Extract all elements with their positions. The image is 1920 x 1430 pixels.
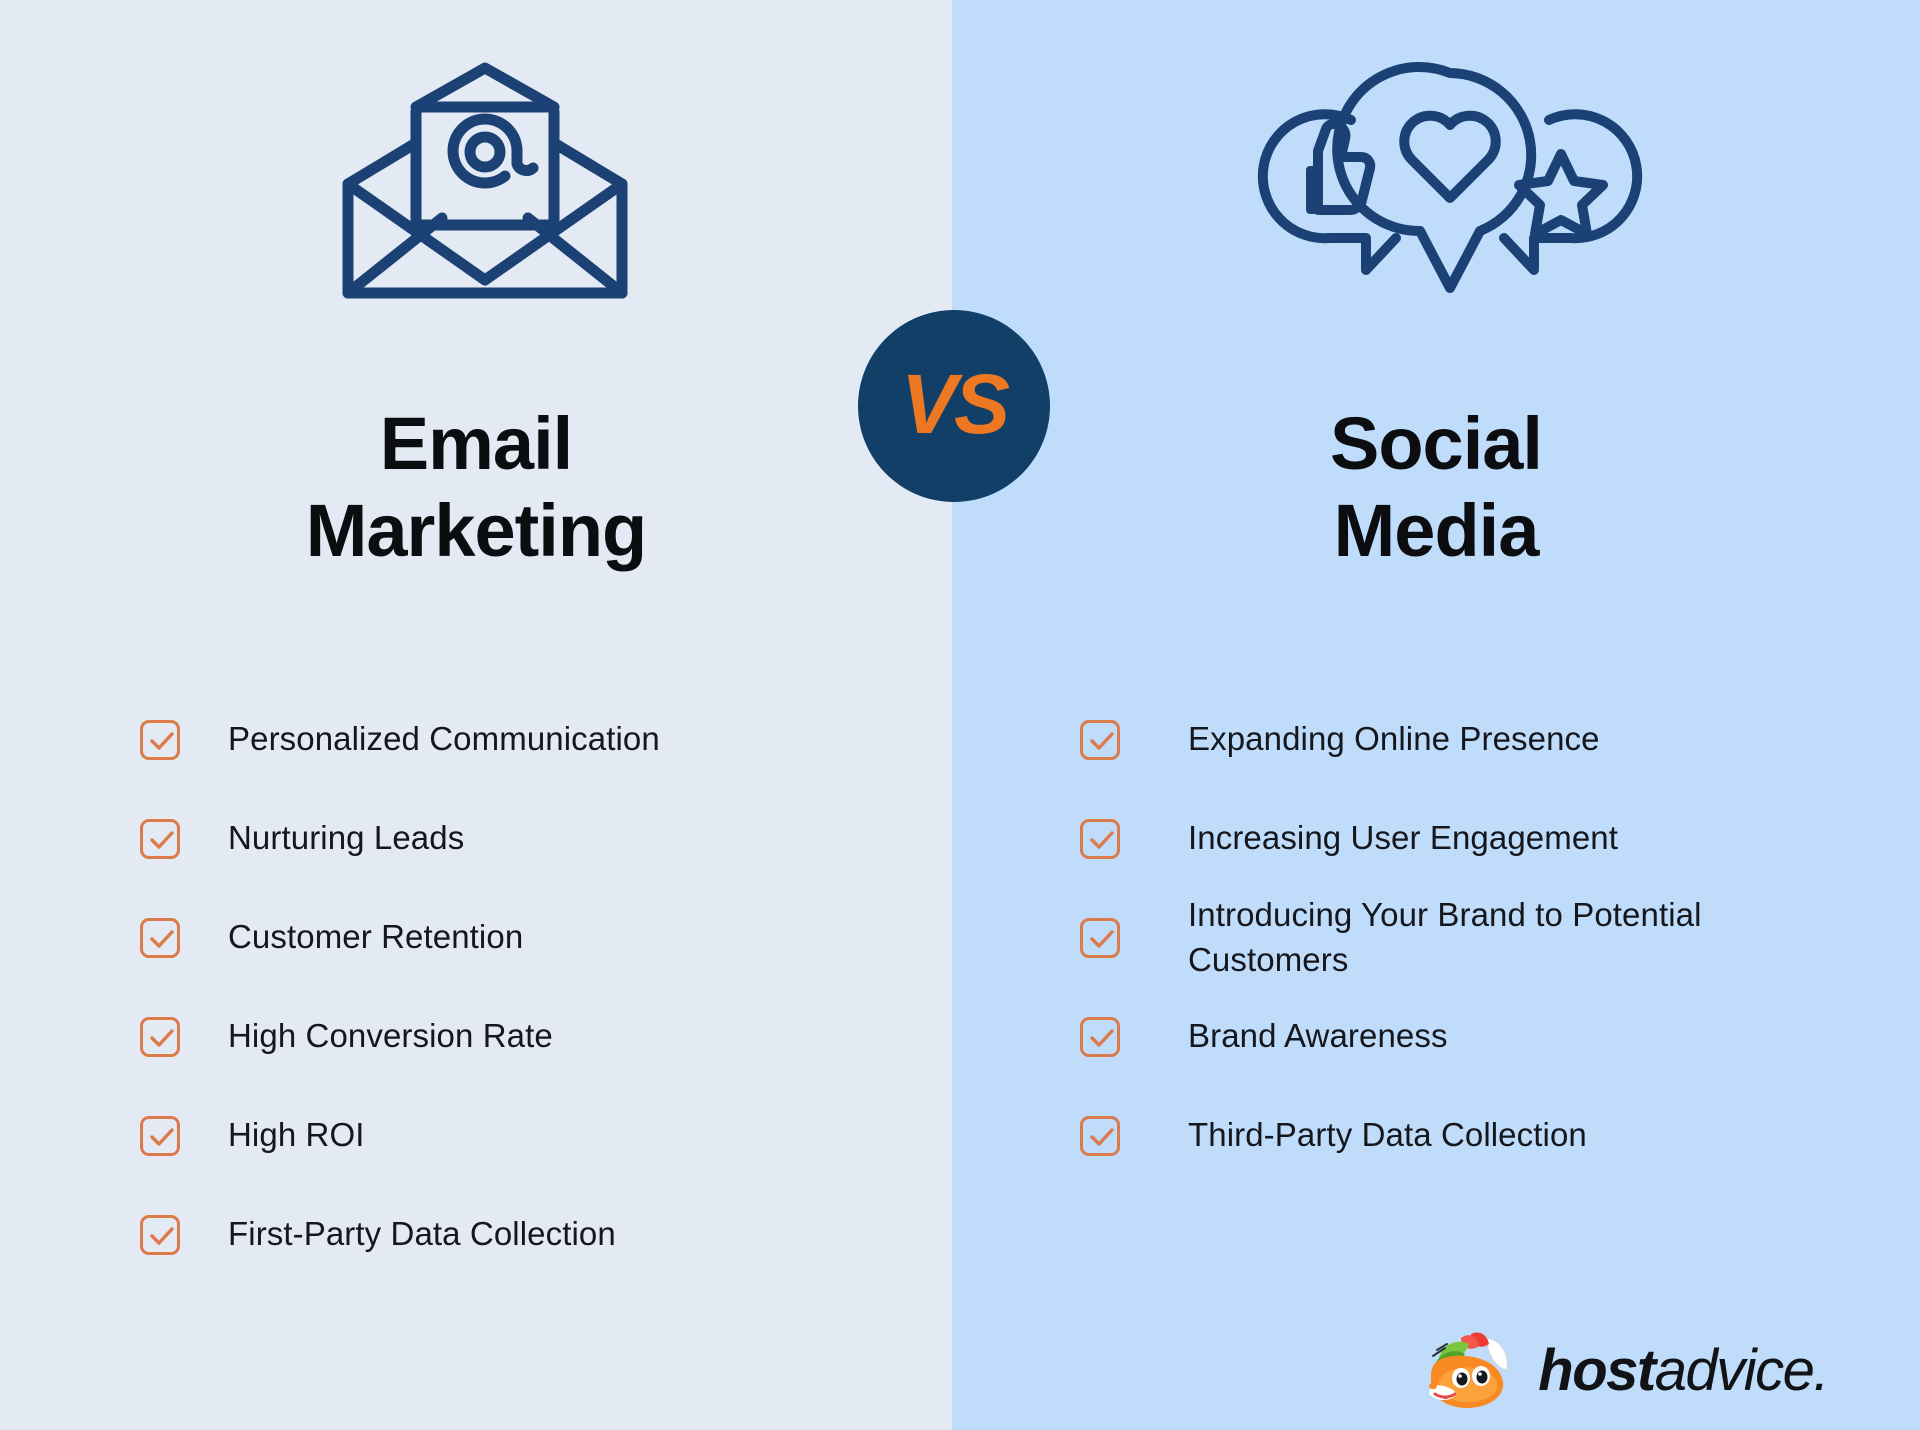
- list-item-label: Introducing Your Brand to Potential Cust…: [1188, 893, 1820, 982]
- list-item[interactable]: High ROI: [140, 1086, 900, 1185]
- versus-badge: VS: [858, 310, 1050, 502]
- checkbox-checked-icon[interactable]: [1080, 819, 1120, 859]
- list-item-label: Customer Retention: [228, 915, 523, 960]
- infographic-canvas: VS Email Marketing Social Media Personal…: [0, 0, 1920, 1430]
- list-item[interactable]: Expanding Online Presence: [1080, 690, 1820, 789]
- list-item-label: Brand Awareness: [1188, 1014, 1448, 1059]
- social-speech-bubbles-icon: [1250, 58, 1650, 308]
- title-line-1: Email: [0, 400, 952, 487]
- list-item[interactable]: Customer Retention: [140, 888, 900, 987]
- list-item[interactable]: Third-Party Data Collection: [1080, 1086, 1820, 1185]
- title-line-1: Social: [952, 400, 1920, 487]
- email-marketing-feature-list: Personalized Communication Nurturing Lea…: [140, 690, 900, 1284]
- list-item-label: Third-Party Data Collection: [1188, 1113, 1587, 1158]
- list-item-label: Increasing User Engagement: [1188, 816, 1618, 861]
- hostadvice-wordmark: hostadvice.: [1538, 1342, 1828, 1400]
- social-media-title: Social Media: [952, 400, 1920, 575]
- fox-mascot-icon: [1425, 1330, 1530, 1412]
- list-item[interactable]: Increasing User Engagement: [1080, 789, 1820, 888]
- checkbox-checked-icon[interactable]: [140, 918, 180, 958]
- list-item[interactable]: High Conversion Rate: [140, 987, 900, 1086]
- checkbox-checked-icon[interactable]: [140, 1017, 180, 1057]
- checkbox-checked-icon[interactable]: [140, 1116, 180, 1156]
- list-item[interactable]: Introducing Your Brand to Potential Cust…: [1080, 888, 1820, 987]
- list-item[interactable]: Personalized Communication: [140, 690, 900, 789]
- checkbox-checked-icon[interactable]: [140, 1215, 180, 1255]
- versus-label: VS: [901, 362, 1007, 446]
- list-item[interactable]: Nurturing Leads: [140, 789, 900, 888]
- wordmark-host: host: [1538, 1338, 1654, 1403]
- email-marketing-title: Email Marketing: [0, 400, 952, 575]
- hostadvice-logo[interactable]: hostadvice.: [1425, 1330, 1828, 1412]
- checkbox-checked-icon[interactable]: [140, 720, 180, 760]
- checkbox-checked-icon[interactable]: [1080, 720, 1120, 760]
- list-item-label: Nurturing Leads: [228, 816, 464, 861]
- title-line-2: Media: [952, 487, 1920, 574]
- list-item[interactable]: Brand Awareness: [1080, 987, 1820, 1086]
- checkbox-checked-icon[interactable]: [1080, 1017, 1120, 1057]
- list-item-label: Personalized Communication: [228, 717, 660, 762]
- list-item-label: High Conversion Rate: [228, 1014, 553, 1059]
- list-item-label: High ROI: [228, 1113, 365, 1158]
- checkbox-checked-icon[interactable]: [1080, 1116, 1120, 1156]
- social-media-feature-list: Expanding Online Presence Increasing Use…: [1080, 690, 1820, 1185]
- list-item[interactable]: First-Party Data Collection: [140, 1185, 900, 1284]
- wordmark-advice: advice.: [1655, 1338, 1828, 1403]
- checkbox-checked-icon[interactable]: [1080, 918, 1120, 958]
- list-item-label: Expanding Online Presence: [1188, 717, 1600, 762]
- list-item-label: First-Party Data Collection: [228, 1212, 616, 1257]
- checkbox-checked-icon[interactable]: [140, 819, 180, 859]
- title-line-2: Marketing: [0, 487, 952, 574]
- open-envelope-at-symbol-icon: [330, 58, 640, 308]
